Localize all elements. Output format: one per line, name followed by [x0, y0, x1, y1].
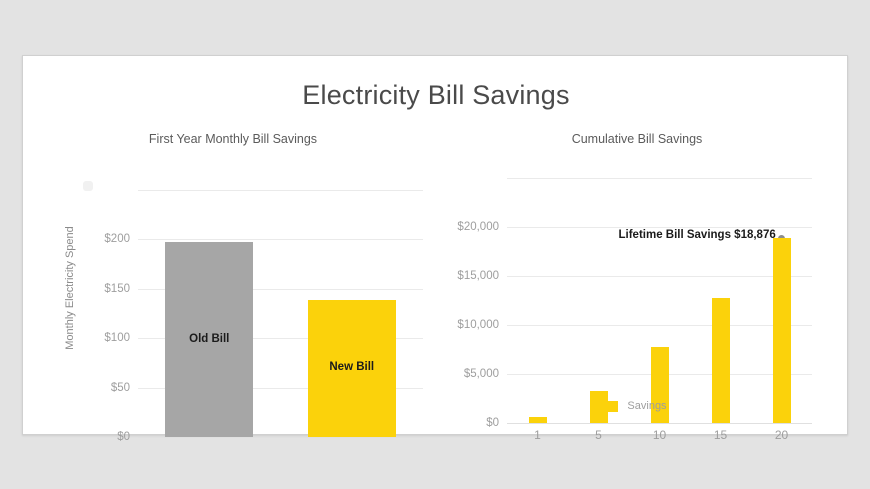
annotation-lifetime-savings: Lifetime Bill Savings $18,876 [619, 229, 776, 241]
y-axis-tick: $15,000 [457, 270, 499, 282]
y-axis-tick: $150 [104, 283, 130, 295]
chart-title-cumulative: Cumulative Bill Savings [437, 132, 837, 146]
slide-card: Electricity Bill Savings First Year Mont… [22, 55, 848, 435]
gridline [507, 325, 812, 326]
x-axis-tick: 1 [534, 428, 541, 442]
y-axis-tick: $5,000 [464, 368, 499, 380]
x-axis-tick: 5 [595, 428, 602, 442]
bar-label: New Bill [308, 361, 396, 373]
gridline [138, 239, 423, 240]
y-axis-tick: $20,000 [457, 221, 499, 233]
gridline [507, 178, 812, 179]
gridline [138, 190, 423, 191]
x-axis-tick: 10 [653, 428, 666, 442]
gridline [507, 227, 812, 228]
bar-label: Old Bill [165, 333, 253, 345]
legend-swatch-savings [607, 401, 618, 412]
chart-legend: Savings [437, 400, 837, 412]
bar-year-20[interactable] [773, 238, 791, 423]
plot-area-cumulative: Lifetime Bill Savings $18,876 $0$5,000$1… [507, 178, 812, 423]
bar-year-1[interactable] [529, 417, 547, 423]
bar-old-bill[interactable]: Old Bill [165, 242, 253, 437]
y-axis-label-first-year: Monthly Electricity Spend [64, 203, 76, 373]
legend-label-savings: Savings [627, 400, 666, 412]
gridline [507, 423, 812, 424]
y-axis-tick: $0 [486, 417, 499, 429]
gridline [138, 437, 423, 438]
y-axis-tick: $100 [104, 332, 130, 344]
chart-title-first-year: First Year Monthly Bill Savings [33, 132, 433, 146]
y-axis-tick: $200 [104, 233, 130, 245]
x-axis-tick: 15 [714, 428, 727, 442]
bar-new-bill[interactable]: New Bill [308, 300, 396, 437]
chart-panel-cumulative: Cumulative Bill Savings Lifetime Bill Sa… [437, 132, 837, 422]
y-axis-tick: $0 [117, 431, 130, 443]
y-axis-tick: $10,000 [457, 319, 499, 331]
plot-area-first-year: $0$50$100$150$200Old BillNew Bill [138, 190, 423, 437]
chart-panel-first-year: First Year Monthly Bill Savings Monthly … [33, 132, 433, 422]
y-axis-tick: $50 [111, 382, 130, 394]
placeholder-dot-icon [83, 181, 93, 191]
page-title: Electricity Bill Savings [23, 80, 849, 111]
gridline [507, 276, 812, 277]
x-axis-tick: 20 [775, 428, 788, 442]
